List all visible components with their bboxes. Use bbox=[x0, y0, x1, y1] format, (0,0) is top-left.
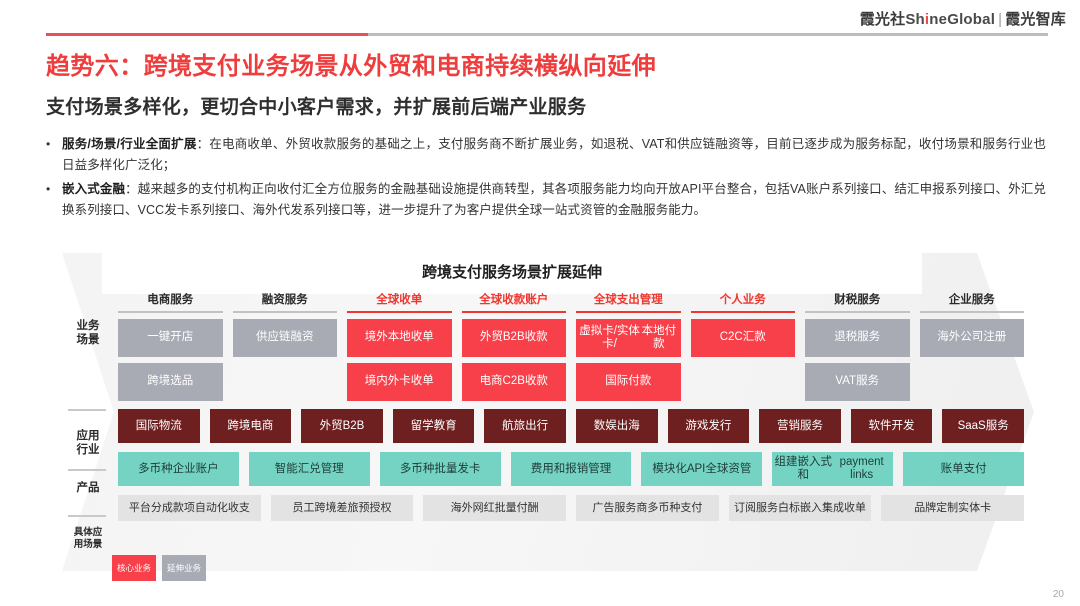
scenario-cell[interactable]: 境外本地收单 bbox=[347, 319, 452, 357]
column-header-underline bbox=[805, 311, 910, 313]
industry-cell[interactable]: 营销服务 bbox=[759, 409, 841, 443]
column-header-underline bbox=[691, 311, 796, 313]
scenario-column: C2C汇款 bbox=[691, 319, 796, 401]
scenario-cell[interactable]: 境内外卡收单 bbox=[347, 363, 452, 401]
column-header-label: 全球收单 bbox=[347, 293, 452, 308]
header-rule-accent bbox=[46, 33, 368, 36]
bullet-lead: 嵌入式金融 bbox=[62, 182, 125, 196]
scenario-cell-grid: 一键开店跨境选品供应链融资境外本地收单境内外卡收单外贸B2B收款电商C2B收款虚… bbox=[118, 319, 1024, 401]
usecase-cell[interactable]: 订阅服务白标嵌入集成收单 bbox=[729, 495, 872, 521]
row-label: 应用行业 bbox=[60, 429, 116, 457]
column-header-underline bbox=[347, 311, 452, 313]
brand-latin-pre: Sh bbox=[905, 11, 925, 28]
column-header-label: 融资服务 bbox=[233, 293, 338, 308]
scenario-column: 退税服务VAT服务 bbox=[805, 319, 910, 401]
bullet-marker: • bbox=[46, 179, 62, 221]
industry-cell[interactable]: 软件开发 bbox=[851, 409, 933, 443]
scenario-cell[interactable]: 退税服务 bbox=[805, 319, 910, 357]
row-label: 具体应用场景 bbox=[60, 527, 116, 551]
column-header-label: 电商服务 bbox=[118, 293, 223, 308]
column-header-label: 全球支出管理 bbox=[576, 293, 681, 308]
diagram-grid: 电商服务融资服务全球收单全球收款账户全球支出管理个人业务财税服务企业服务 一键开… bbox=[118, 293, 1024, 521]
brand-cn-primary: 霞光社 bbox=[860, 11, 906, 28]
scenario-cell[interactable]: 供应链融资 bbox=[233, 319, 338, 357]
bullet-body: ：越来越多的支付机构正向收付汇全方位服务的金融基础设施提供商转型，其各项服务能力… bbox=[62, 182, 1046, 217]
row-label: 产品 bbox=[60, 481, 116, 495]
scenario-column: 外贸B2B收款电商C2B收款 bbox=[462, 319, 567, 401]
scenario-column: 供应链融资 bbox=[233, 319, 338, 401]
legend: 核心业务延伸业务 bbox=[112, 555, 206, 581]
scenario-cell-empty bbox=[691, 363, 796, 401]
column-header[interactable]: 融资服务 bbox=[233, 293, 338, 313]
industry-cell[interactable]: 留学教育 bbox=[393, 409, 475, 443]
industry-cell[interactable]: SaaS服务 bbox=[942, 409, 1024, 443]
diagram-title: 跨境支付服务场景扩展延伸 bbox=[102, 261, 922, 282]
product-cell[interactable]: 多币种批量发卡 bbox=[380, 452, 501, 486]
page-title: 趋势六：跨境支付业务场景从外贸和电商持续横纵向延伸 bbox=[46, 46, 656, 81]
scenario-cell[interactable]: 跨境选品 bbox=[118, 363, 223, 401]
usecase-row: 平台分成款项自动化收支员工跨境差旅预授权海外网红批量付酬广告服务商多币种支付订阅… bbox=[118, 495, 1024, 521]
bullet-text: 嵌入式金融：越来越多的支付机构正向收付汇全方位服务的金融基础设施提供商转型，其各… bbox=[62, 179, 1046, 221]
brand-cn-secondary: 霞光智库 bbox=[1005, 11, 1066, 28]
list-item: • 嵌入式金融：越来越多的支付机构正向收付汇全方位服务的金融基础设施提供商转型，… bbox=[46, 179, 1046, 221]
scenario-column: 境外本地收单境内外卡收单 bbox=[347, 319, 452, 401]
scenario-cell[interactable]: 虚拟卡/实体卡/本地付款 bbox=[576, 319, 681, 357]
diagram-container: 跨境支付服务场景扩展延伸 业务场景应用行业产品具体应用场景 电商服务融资服务全球… bbox=[62, 253, 1034, 571]
brand-latin-post: neGlobal bbox=[929, 11, 995, 28]
industry-cell[interactable]: 数娱出海 bbox=[576, 409, 658, 443]
column-header-row: 电商服务融资服务全球收单全球收款账户全球支出管理个人业务财税服务企业服务 bbox=[118, 293, 1024, 313]
usecase-cell[interactable]: 平台分成款项自动化收支 bbox=[118, 495, 261, 521]
column-header-underline bbox=[233, 311, 338, 313]
column-header[interactable]: 企业服务 bbox=[920, 293, 1025, 313]
bullet-lead: 服务/场景/行业全面扩展 bbox=[62, 137, 197, 151]
brand-divider: | bbox=[995, 11, 1005, 28]
column-header-label: 个人业务 bbox=[691, 293, 796, 308]
column-header[interactable]: 全球收款账户 bbox=[462, 293, 567, 313]
list-item: • 服务/场景/行业全面扩展：在电商收单、外贸收款服务的基础之上，支付服务商不断… bbox=[46, 134, 1046, 176]
product-cell[interactable]: 组建嵌入式和payment links bbox=[772, 452, 893, 486]
bullet-body: ：在电商收单、外贸收款服务的基础之上，支付服务商不断扩展业务，如退税、VAT和供… bbox=[62, 137, 1046, 172]
column-header-label: 企业服务 bbox=[920, 293, 1025, 308]
usecase-cell[interactable]: 员工跨境差旅预授权 bbox=[271, 495, 414, 521]
usecase-cell[interactable]: 品牌定制实体卡 bbox=[881, 495, 1024, 521]
column-header-label: 财税服务 bbox=[805, 293, 910, 308]
row-label: 业务场景 bbox=[60, 319, 116, 347]
column-header[interactable]: 全球支出管理 bbox=[576, 293, 681, 313]
bullet-marker: • bbox=[46, 134, 62, 176]
product-cell[interactable]: 多币种企业账户 bbox=[118, 452, 239, 486]
bullet-text: 服务/场景/行业全面扩展：在电商收单、外贸收款服务的基础之上，支付服务商不断扩展… bbox=[62, 134, 1046, 176]
industry-cell[interactable]: 航旅出行 bbox=[484, 409, 566, 443]
row-separator bbox=[68, 515, 106, 517]
scenario-cell[interactable]: 一键开店 bbox=[118, 319, 223, 357]
scenario-cell[interactable]: 海外公司注册 bbox=[920, 319, 1025, 357]
scenario-cell[interactable]: C2C汇款 bbox=[691, 319, 796, 357]
product-cell[interactable]: 模块化API全球资管 bbox=[641, 452, 762, 486]
column-header-underline bbox=[920, 311, 1025, 313]
product-cell[interactable]: 智能汇兑管理 bbox=[249, 452, 370, 486]
product-cell[interactable]: 账单支付 bbox=[903, 452, 1024, 486]
scenario-cell[interactable]: VAT服务 bbox=[805, 363, 910, 401]
scenario-cell[interactable]: 电商C2B收款 bbox=[462, 363, 567, 401]
column-header-underline bbox=[118, 311, 223, 313]
scenario-column: 一键开店跨境选品 bbox=[118, 319, 223, 401]
legend-swatch: 核心业务 bbox=[112, 555, 156, 581]
product-row: 多币种企业账户智能汇兑管理多币种批量发卡费用和报销管理模块化API全球资管组建嵌… bbox=[118, 452, 1024, 486]
scenario-column: 海外公司注册 bbox=[920, 319, 1025, 401]
industry-cell[interactable]: 国际物流 bbox=[118, 409, 200, 443]
slide-page: 霞光社ShineGlobal|霞光智库 趋势六：跨境支付业务场景从外贸和电商持续… bbox=[0, 0, 1080, 606]
row-separator bbox=[68, 469, 106, 471]
industry-cell[interactable]: 跨境电商 bbox=[210, 409, 292, 443]
column-header[interactable]: 电商服务 bbox=[118, 293, 223, 313]
brand-logo: 霞光社ShineGlobal|霞光智库 bbox=[860, 8, 1066, 29]
industry-cell[interactable]: 外贸B2B bbox=[301, 409, 383, 443]
column-header[interactable]: 全球收单 bbox=[347, 293, 452, 313]
page-subtitle: 支付场景多样化，更切合中小客户需求，并扩展前后端产业服务 bbox=[46, 92, 586, 119]
industry-row: 国际物流跨境电商外贸B2B留学教育航旅出行数娱出海游戏发行营销服务软件开发Saa… bbox=[118, 409, 1024, 443]
scenario-cell-empty bbox=[233, 363, 338, 401]
row-separator bbox=[68, 409, 106, 411]
scenario-cell-empty bbox=[920, 363, 1025, 401]
column-header[interactable]: 个人业务 bbox=[691, 293, 796, 313]
usecase-cell[interactable]: 广告服务商多币种支付 bbox=[576, 495, 719, 521]
industry-cell[interactable]: 游戏发行 bbox=[668, 409, 750, 443]
bullet-list: • 服务/场景/行业全面扩展：在电商收单、外贸收款服务的基础之上，支付服务商不断… bbox=[46, 134, 1046, 224]
scenario-cell[interactable]: 外贸B2B收款 bbox=[462, 319, 567, 357]
product-cell[interactable]: 费用和报销管理 bbox=[511, 452, 632, 486]
column-header-label: 全球收款账户 bbox=[462, 293, 567, 308]
column-header[interactable]: 财税服务 bbox=[805, 293, 910, 313]
legend-swatch: 延伸业务 bbox=[162, 555, 206, 581]
page-number: 20 bbox=[1053, 589, 1064, 600]
scenario-cell[interactable]: 国际付款 bbox=[576, 363, 681, 401]
usecase-cell[interactable]: 海外网红批量付酬 bbox=[423, 495, 566, 521]
column-header-underline bbox=[576, 311, 681, 313]
scenario-column: 虚拟卡/实体卡/本地付款国际付款 bbox=[576, 319, 681, 401]
column-header-underline bbox=[462, 311, 567, 313]
